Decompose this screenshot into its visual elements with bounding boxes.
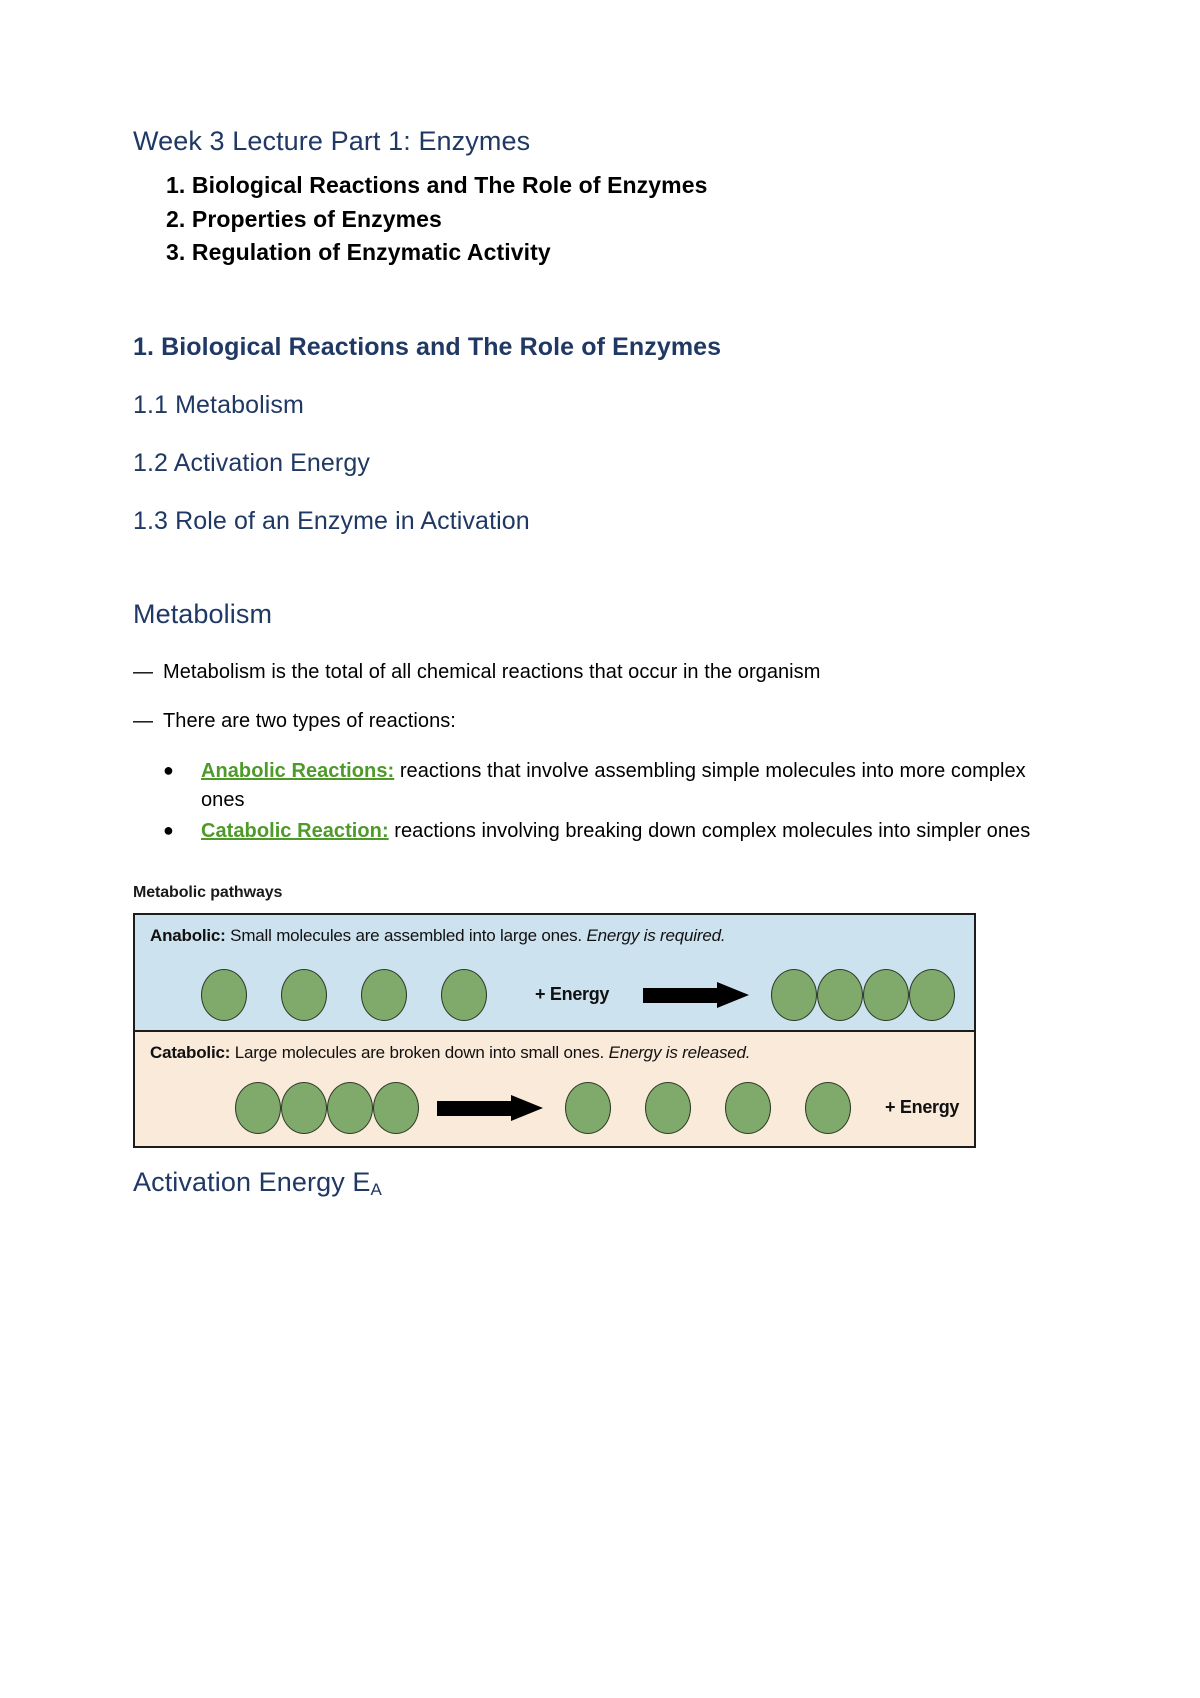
molecule-icon: [441, 969, 487, 1021]
molecule-icon: [565, 1082, 611, 1134]
spacer: [133, 536, 1073, 598]
molecule-icon: [817, 969, 863, 1021]
toc-item-1: 1. Biological Reactions and The Role of …: [166, 169, 1073, 203]
metabolism-heading: Metabolism: [133, 598, 1073, 630]
spacer: [133, 270, 1073, 332]
metabolism-point-1: — Metabolism is the total of all chemica…: [133, 659, 1073, 686]
bullet-icon: ●: [163, 817, 201, 846]
toc-item-2: 2. Properties of Enzymes: [166, 203, 1073, 237]
subsection-1-2-heading: 1.2 Activation Energy: [133, 448, 1073, 478]
subsection-1-1-heading: 1.1 Metabolism: [133, 390, 1073, 420]
reaction-arrow-icon: [437, 1095, 547, 1121]
molecule-icon: [771, 969, 817, 1021]
catabolic-emphasis: Energy is released.: [609, 1043, 751, 1062]
molecule-icon: [201, 969, 247, 1021]
anabolic-diagram-row: + Energy: [135, 963, 974, 1027]
anabolic-panel-text: Anabolic: Small molecules are assembled …: [135, 915, 974, 946]
molecule-icon: [281, 1082, 327, 1134]
table-of-contents: 1. Biological Reactions and The Role of …: [133, 169, 1073, 270]
spacer: [133, 362, 1073, 390]
page-title: Week 3 Lecture Part 1: Enzymes: [133, 125, 1073, 159]
list-item: ● Anabolic Reactions: reactions that inv…: [163, 757, 1073, 815]
dash-icon: —: [133, 708, 163, 735]
bullet-icon: ●: [163, 757, 201, 815]
catabolic-energy-label: + Energy: [885, 1097, 959, 1118]
catabolic-definition: reactions involving breaking down comple…: [389, 820, 1031, 842]
toc-item-3: 3. Regulation of Enzymatic Activity: [166, 236, 1073, 270]
molecule-icon: [909, 969, 955, 1021]
activation-energy-heading: Activation Energy EA: [133, 1166, 1073, 1198]
catabolic-label: Catabolic:: [150, 1043, 230, 1062]
figure-caption: Metabolic pathways: [133, 884, 1073, 902]
anabolic-emphasis: Energy is required.: [586, 926, 725, 945]
document-page: Week 3 Lecture Part 1: Enzymes 1. Biolog…: [0, 0, 1200, 1698]
molecule-icon: [327, 1082, 373, 1134]
molecule-icon: [281, 969, 327, 1021]
catabolic-description: Large molecules are broken down into sma…: [230, 1043, 608, 1062]
subsection-1-3-heading: 1.3 Role of an Enzyme in Activation: [133, 506, 1073, 536]
molecule-icon: [863, 969, 909, 1021]
list-item: ● Catabolic Reaction: reactions involvin…: [163, 817, 1073, 846]
catabolic-diagram-row: + Energy: [135, 1076, 974, 1140]
anabolic-term: Anabolic Reactions:: [201, 760, 394, 782]
catabolic-panel-text: Catabolic: Large molecules are broken do…: [135, 1032, 974, 1063]
reaction-types-list: ● Anabolic Reactions: reactions that inv…: [133, 757, 1073, 846]
molecule-icon: [235, 1082, 281, 1134]
metabolic-pathways-figure: Anabolic: Small molecules are assembled …: [133, 913, 976, 1148]
molecule-icon: [805, 1082, 851, 1134]
molecule-icon: [725, 1082, 771, 1134]
spacer: [133, 420, 1073, 448]
document-content: Week 3 Lecture Part 1: Enzymes 1. Biolog…: [133, 125, 1073, 1198]
reaction-arrow-icon: [643, 982, 753, 1008]
spacer: [133, 478, 1073, 506]
metabolism-point-2: — There are two types of reactions:: [133, 708, 1073, 735]
section-1-heading: 1. Biological Reactions and The Role of …: [133, 332, 1073, 362]
anabolic-label: Anabolic:: [150, 926, 226, 945]
anabolic-description: Small molecules are assembled into large…: [226, 926, 587, 945]
molecule-icon: [645, 1082, 691, 1134]
activation-energy-subscript: A: [371, 1180, 382, 1199]
anabolic-energy-label: + Energy: [535, 984, 609, 1005]
molecule-icon: [361, 969, 407, 1021]
spacer: [133, 631, 1073, 659]
anabolic-panel: Anabolic: Small molecules are assembled …: [135, 915, 974, 1032]
spacer: [133, 1148, 1073, 1166]
catabolic-term: Catabolic Reaction:: [201, 820, 389, 842]
catabolic-panel: Catabolic: Large molecules are broken do…: [135, 1032, 974, 1146]
spacer: [133, 848, 1073, 884]
dash-icon: —: [133, 659, 163, 686]
activation-energy-text: Activation Energy E: [133, 1167, 371, 1197]
molecule-icon: [373, 1082, 419, 1134]
